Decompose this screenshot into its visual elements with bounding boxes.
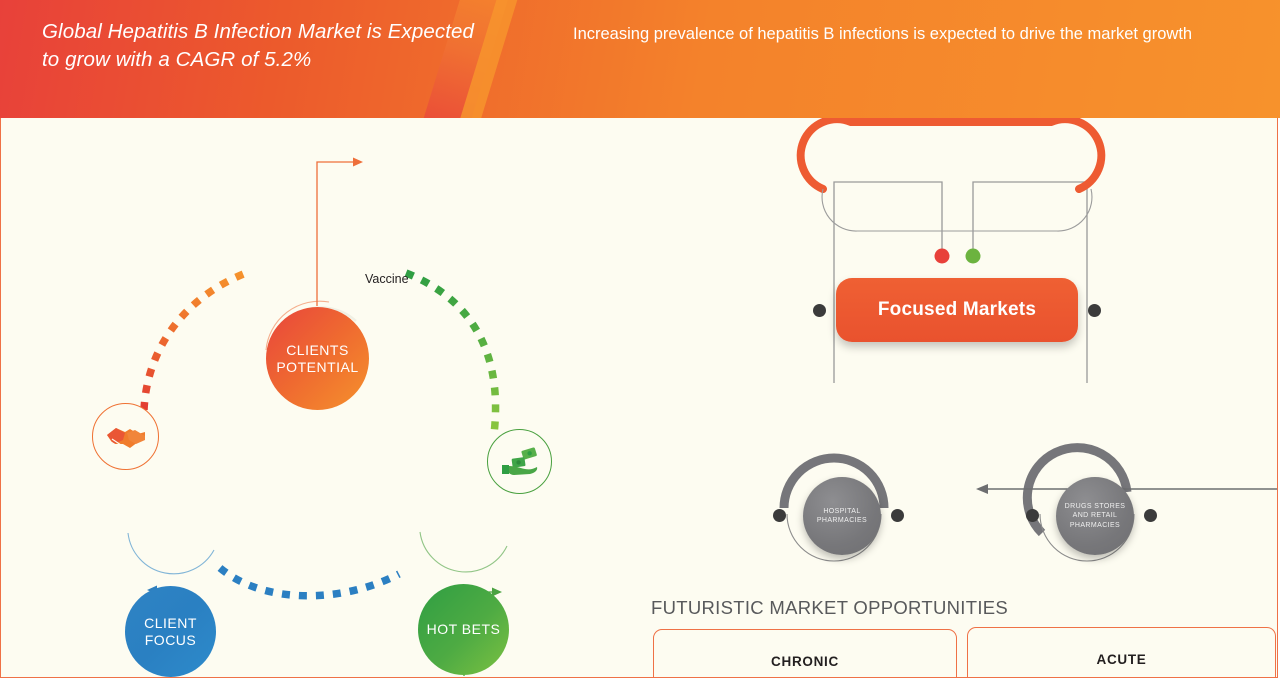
channel-dot-right xyxy=(1144,509,1157,522)
channel-label: HOSPITAL PHARMACIES xyxy=(803,477,881,555)
opportunity-box-label: ACUTE xyxy=(1097,652,1147,667)
channel-label: DRUGS STORES AND RETAIL PHARMACIES xyxy=(1056,477,1134,555)
focused-markets-pill[interactable]: Focused Markets xyxy=(836,278,1078,342)
diagram-canvas: CLIENTS POTENTIAL CLIENT FOCUS HOT BETS xyxy=(0,118,1278,678)
wheel-node-hot-bets[interactable]: HOT BETS xyxy=(418,584,509,675)
channel-dot-right xyxy=(891,509,904,522)
wheel-node-client-focus[interactable]: CLIENT FOCUS xyxy=(125,586,216,677)
channel-dot-left xyxy=(773,509,786,522)
wheel-node-clients-potential[interactable]: CLIENTS POTENTIAL xyxy=(266,307,369,410)
focused-markets-dot-right xyxy=(1088,304,1101,317)
page-title: Global Hepatitis B Infection Market is E… xyxy=(42,18,492,74)
opportunity-box-acute[interactable]: ACUTE xyxy=(967,627,1276,678)
channel-dot-left xyxy=(1026,509,1039,522)
opportunity-box-chronic[interactable]: CHRONIC xyxy=(653,629,957,678)
wheel-node-label: CLIENT FOCUS xyxy=(125,615,216,649)
header-banner: Global Hepatitis B Infection Market is E… xyxy=(0,0,1280,118)
callout-vaccine: Vaccine xyxy=(365,272,409,287)
focused-markets-group: Focused Markets xyxy=(807,264,1107,369)
wheel-node-label: CLIENTS POTENTIAL xyxy=(266,342,369,376)
wheel-node-label: HOT BETS xyxy=(427,621,501,638)
channel-node-drugs-stores-retail-pharmacies[interactable]: DRUGS STORES AND RETAIL PHARMACIES xyxy=(1037,458,1137,558)
money-hand-icon xyxy=(487,429,552,494)
futuristic-opportunities-title: FUTURISTIC MARKET OPPORTUNITIES xyxy=(651,597,1008,619)
focused-markets-title: Focused Markets xyxy=(878,299,1036,321)
focused-markets-dot-left xyxy=(813,304,826,317)
channel-node-hospital-pharmacies[interactable]: HOSPITAL PHARMACIES xyxy=(784,458,884,558)
header-subtitle: Increasing prevalence of hepatitis B inf… xyxy=(573,22,1233,46)
infographic-page: Global Hepatitis B Infection Market is E… xyxy=(0,0,1280,680)
opportunity-box-label: CHRONIC xyxy=(771,654,839,669)
handshake-icon xyxy=(92,403,159,470)
